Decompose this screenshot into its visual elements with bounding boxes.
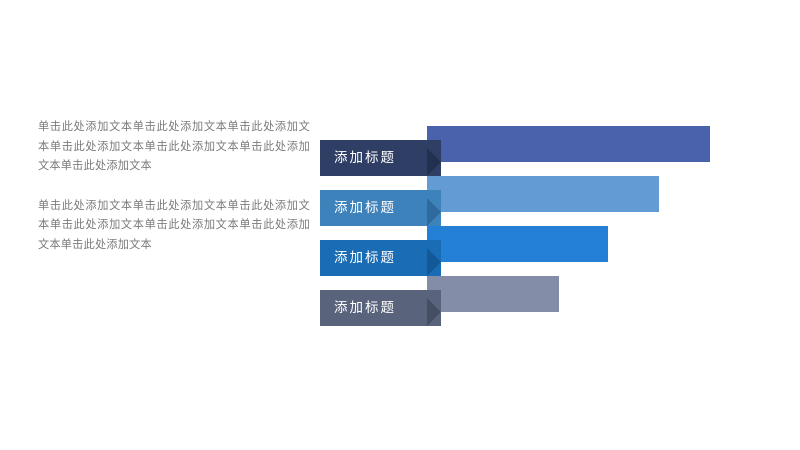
bar-label-text-3: 添加标题 [320, 251, 396, 265]
bar-value-label-1: 75% [616, 128, 667, 160]
description-column: 单击此处添加文本单击此处添加文本单击此处添加文本单击此处添加文本单击此处添加文本… [38, 118, 310, 256]
bar-label-plate-2[interactable]: 添加标题 [320, 190, 441, 226]
bar-fold-corner-icon-3 [427, 240, 441, 276]
slide-canvas: 单击此处添加文本单击此处添加文本单击此处添加文本单击此处添加文本单击此处添加文本… [0, 0, 800, 450]
bar-label-plate-4[interactable]: 添加标题 [320, 290, 441, 326]
bar-label-plate-3[interactable]: 添加标题 [320, 240, 441, 276]
bar-label-text-2: 添加标题 [320, 201, 396, 215]
bar-label-plate-1[interactable]: 添加标题 [320, 140, 441, 176]
bar-fold-corner-icon-1 [427, 140, 441, 176]
description-paragraph-1: 单击此处添加文本单击此处添加文本单击此处添加文本单击此处添加文本单击此处添加文本… [38, 118, 310, 177]
bar-fill-2 [427, 176, 659, 212]
bar-fold-corner-icon-4 [427, 290, 441, 326]
description-paragraph-2: 单击此处添加文本单击此处添加文本单击此处添加文本单击此处添加文本单击此处添加文本… [38, 197, 310, 256]
bar-row-1[interactable]: 添加标题75% [320, 126, 790, 176]
bar-value-label-3: 55% [514, 228, 565, 260]
bar-value-label-4: 45% [465, 278, 516, 310]
bar-fill-1 [427, 126, 710, 162]
bar-row-3[interactable]: 添加标题55% [320, 226, 790, 276]
bar-label-text-1: 添加标题 [320, 151, 396, 165]
bar-label-text-4: 添加标题 [320, 301, 396, 315]
bar-row-4[interactable]: 添加标题45% [320, 276, 790, 326]
bar-value-label-2: 65% [565, 178, 616, 210]
bar-row-2[interactable]: 添加标题65% [320, 176, 790, 226]
horizontal-bar-chart: 添加标题75%添加标题65%添加标题55%添加标题45% [320, 110, 790, 325]
bar-fold-corner-icon-2 [427, 190, 441, 226]
